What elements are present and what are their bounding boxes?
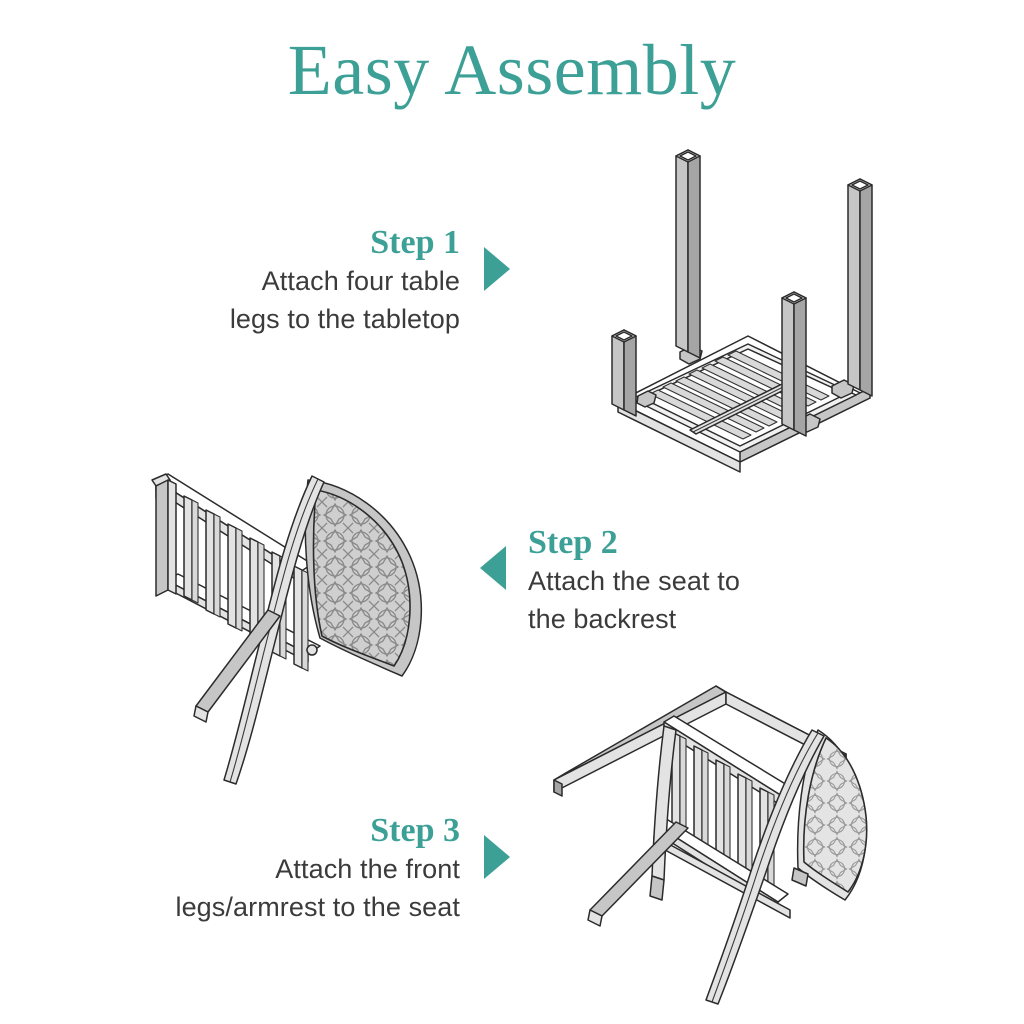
step-2-illustration-backrest (140, 450, 480, 790)
step-3-text-block: Step 3 Attach the front legs/armrest to … (60, 812, 460, 927)
step-1-heading: Step 1 (60, 224, 460, 262)
triangle-left-icon-step-2 (480, 546, 506, 590)
step-3-body-line-2: legs/armrest to the seat (60, 888, 460, 926)
table-leg-back-right (848, 179, 872, 396)
step-1-text-block: Step 1 Attach four table legs to the tab… (60, 224, 460, 339)
table-leg-front-left (612, 330, 636, 416)
step-3-heading: Step 3 (60, 812, 460, 850)
step-1-body-line-1: Attach four table (60, 262, 460, 300)
infographic-canvas: Easy Assembly Step 1 Attach four table l… (0, 0, 1024, 1024)
step-2-body-line-1: Attach the seat to (528, 562, 908, 600)
backrest-lattice-panel (300, 480, 430, 680)
triangle-right-icon-step-1 (484, 247, 510, 291)
step-1-body-line-2: legs to the tabletop (60, 300, 460, 338)
chair-rear-leg (588, 822, 688, 926)
table-leg-back-left (676, 150, 700, 358)
step-3-illustration-chair (540, 660, 910, 1010)
table-leg-front-right (782, 292, 806, 436)
step-3-body-line-1: Attach the front (60, 850, 460, 888)
step-1-illustration-table-frame (580, 140, 910, 490)
step-2-heading: Step 2 (528, 524, 908, 562)
step-2-text-block: Step 2 Attach the seat to the backrest (528, 524, 908, 639)
backrest-joint (307, 645, 317, 655)
triangle-right-icon-step-3 (484, 835, 510, 879)
page-title: Easy Assembly (0, 34, 1024, 106)
step-2-body-line-2: the backrest (528, 600, 908, 638)
